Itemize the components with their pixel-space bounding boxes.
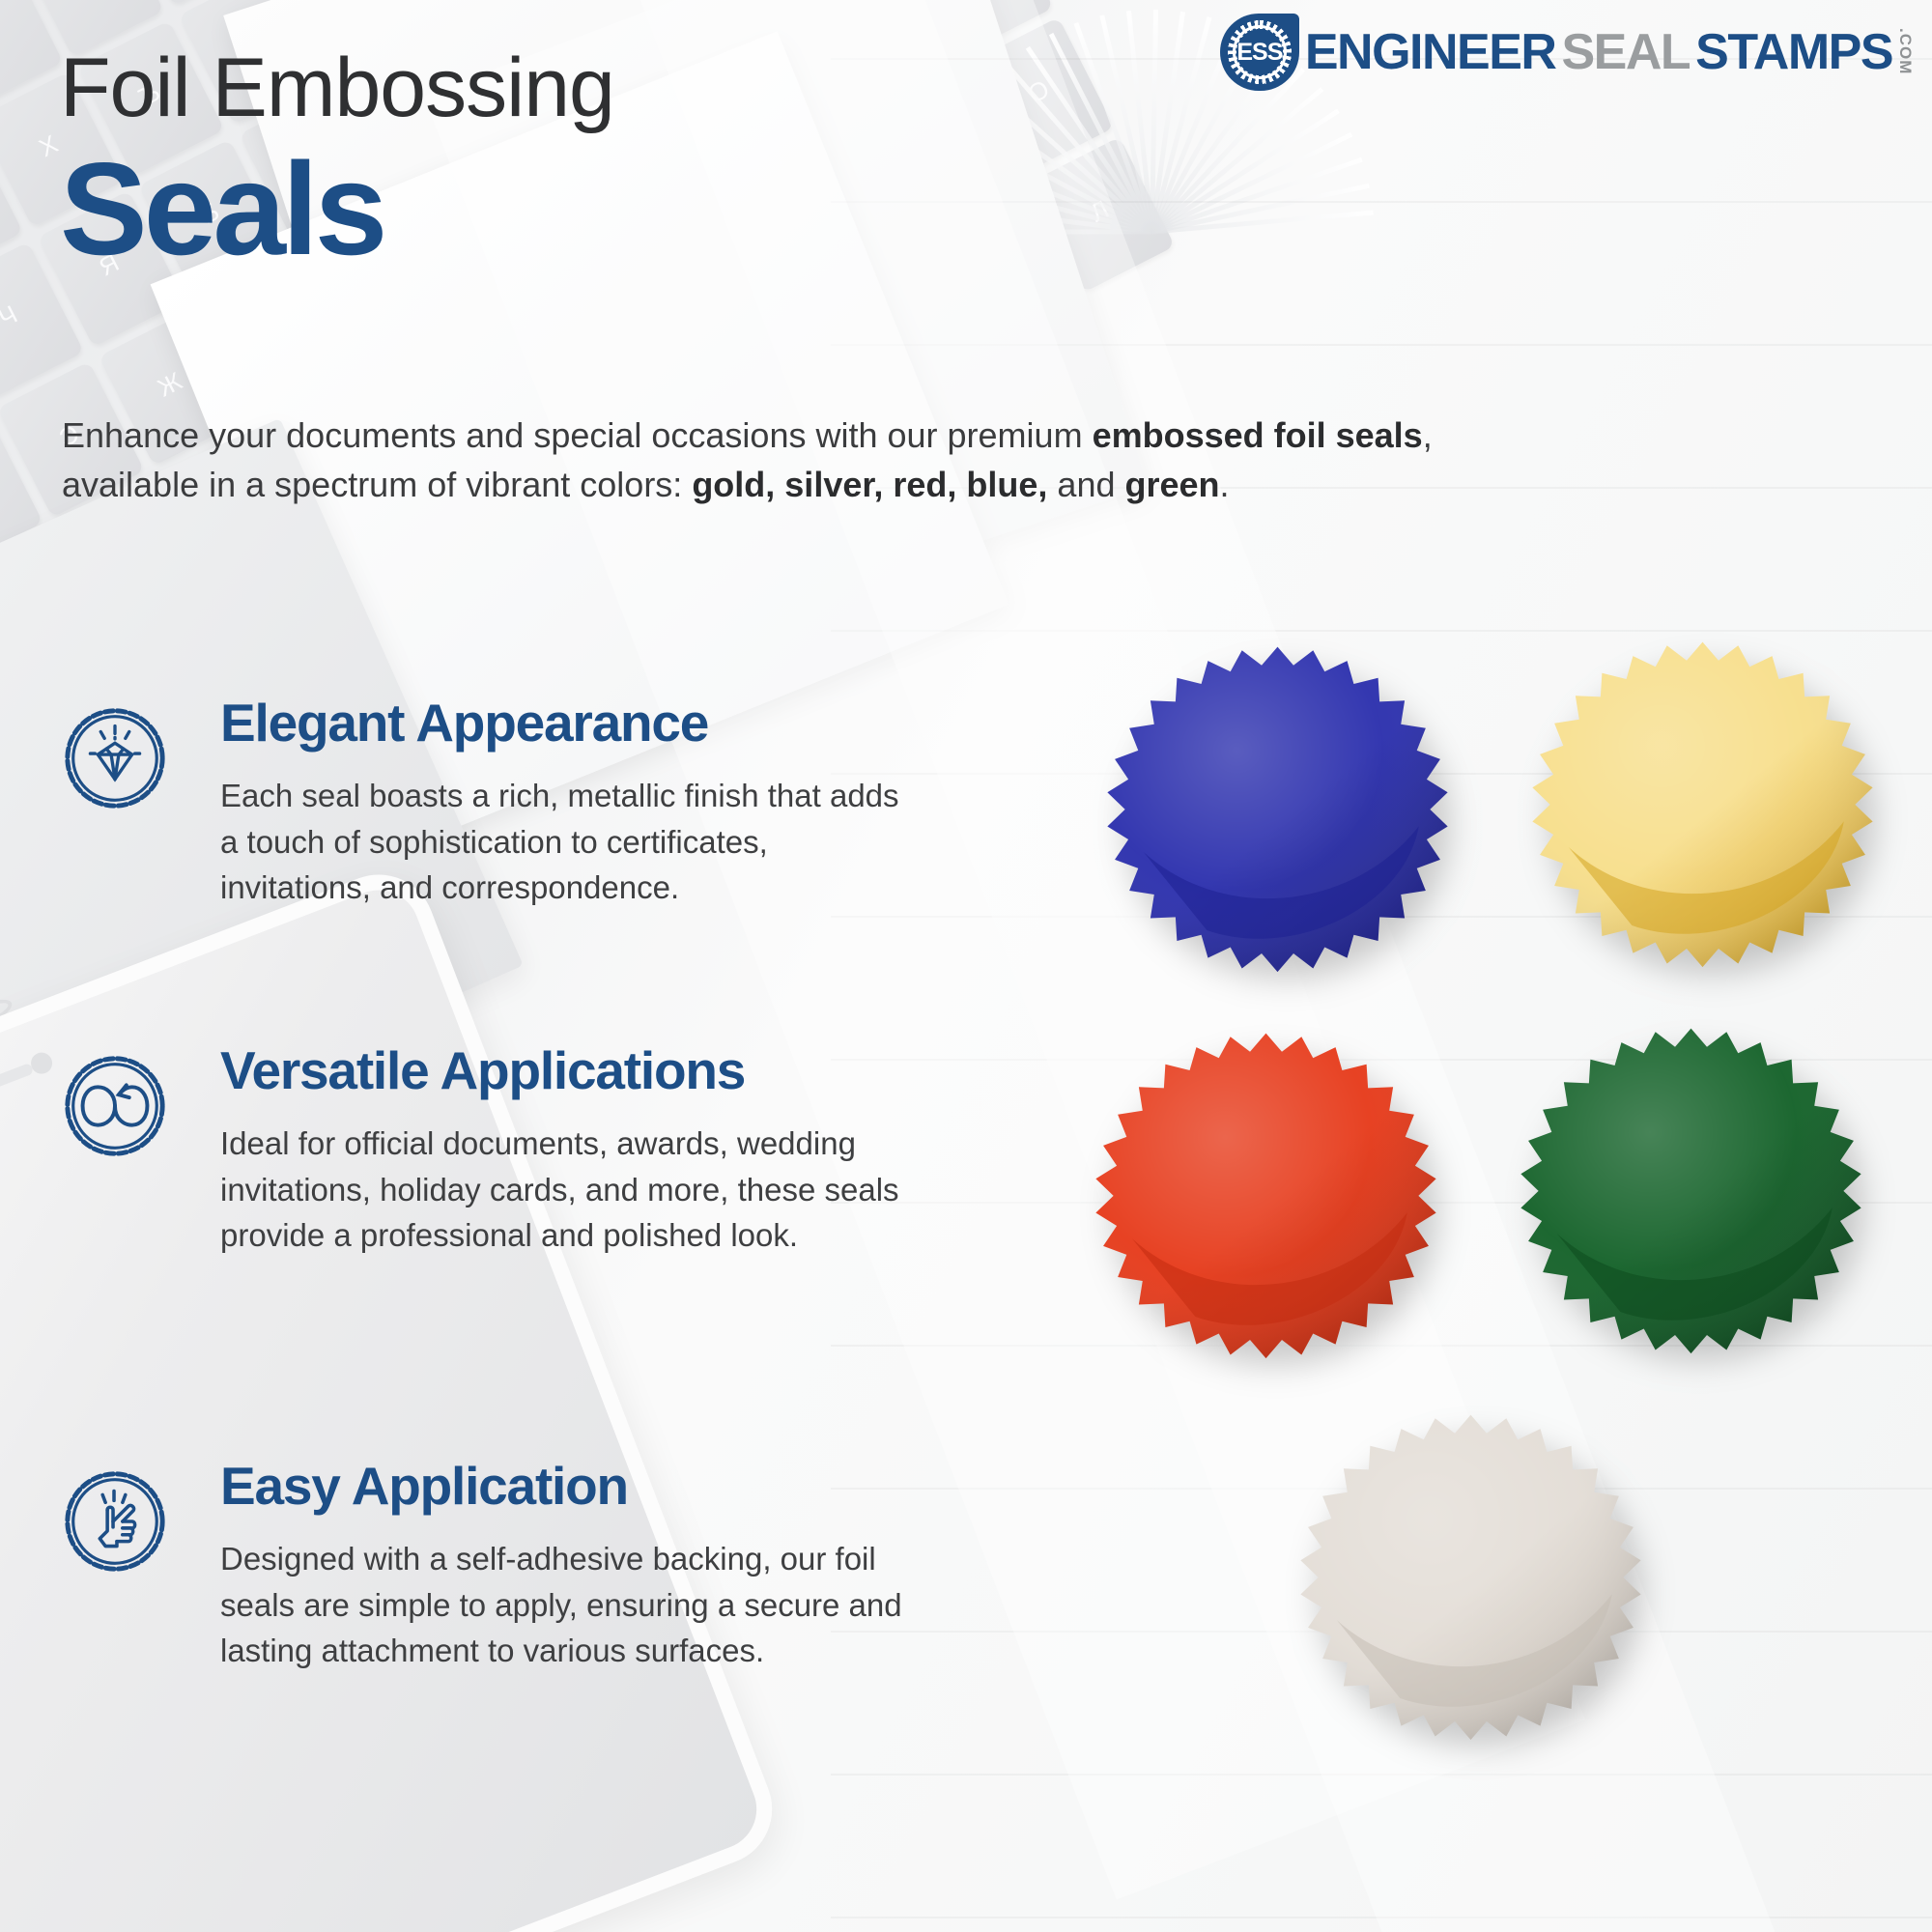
logo-word-engineer: ENGINEER [1305,27,1556,77]
feature-easy-application: Easy Application Designed with a self-ad… [58,1459,927,1674]
seal-silver [1285,1401,1657,1753]
page-title-line-1: Foil Embossing [60,41,614,136]
feature-title: Versatile Applications [220,1043,927,1099]
feature-body: Each seal boasts a rich, metallic finish… [220,773,916,912]
intro-bold-1: embossed foil seals [1093,415,1423,455]
intro-bold-3: green [1125,465,1220,504]
seal-shape [1517,628,1889,981]
intro-bold-2: gold, silver, red, blue, [692,465,1047,504]
seal-shape [1092,633,1463,986]
feature-body: Designed with a self-adhesive backing, o… [220,1536,916,1675]
seal-shape [1505,1014,1877,1368]
feature-title: Easy Application [220,1459,927,1515]
feature-versatile-applications: Versatile Applications Ideal for officia… [58,1043,927,1259]
seal-shape [1080,1019,1452,1373]
logo-tld: .COM [1895,28,1915,74]
seal-blue [1092,633,1463,985]
intro-text-4: . [1220,465,1230,504]
gear-icon: ESS [1230,22,1290,82]
brand-logo[interactable]: ESS ENGINEER SEAL STAMPS .COM [1220,14,1915,91]
feature-title: Elegant Appearance [220,696,927,752]
feature-body: Ideal for official documents, awards, we… [220,1121,916,1260]
logo-word-stamps: STAMPS [1695,27,1892,77]
logo-word-seal: SEAL [1561,27,1690,77]
seal-red [1080,1019,1452,1372]
intro-paragraph: Enhance your documents and special occas… [62,411,1434,509]
diamond-icon [58,701,172,815]
logo-shield-icon: ESS [1220,14,1299,91]
infinity-loop-icon [58,1049,172,1163]
tapping-hand-icon [58,1464,172,1578]
page-title-line-2: Seals [60,133,384,284]
feature-elegant-appearance: Elegant Appearance Each seal boasts a ri… [58,696,927,911]
seal-green [1505,1014,1877,1367]
intro-text-3: and [1047,465,1124,504]
seal-gold [1517,628,1889,980]
logo-monogram: ESS [1236,39,1282,67]
intro-text-1: Enhance your documents and special occas… [62,415,1093,455]
seal-shape [1285,1401,1657,1754]
